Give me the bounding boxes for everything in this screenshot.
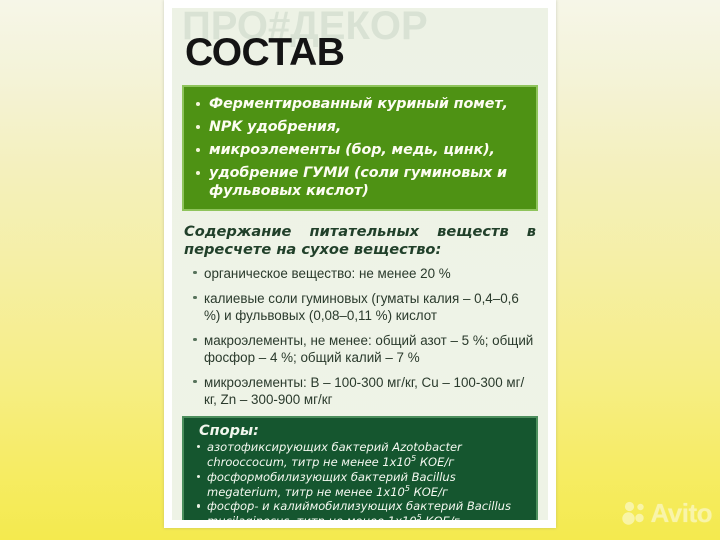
spores-list: азотофиксирующих бактерий Azotobacter ch… [193, 440, 527, 520]
spores-box: Споры: азотофиксирующих бактерий Azotoba… [182, 416, 538, 520]
list-item: удобрение ГУМИ (соли гуминовых и фульвов… [194, 164, 526, 200]
list-item: органическое вещество: не менее 20 % [192, 265, 536, 282]
avito-watermark-label: Avito [650, 500, 712, 526]
page-background: ПРО#ДЕКОР СОСТАВ Ферментированный курины… [0, 0, 720, 540]
spore-text-suffix: КОЕ/г [422, 514, 460, 520]
card-inner-panel: ПРО#ДЕКОР СОСТАВ Ферментированный курины… [172, 8, 548, 520]
list-item: NPK удобрения, [194, 118, 526, 136]
list-item: микроэлементы (бор, медь, цинк), [194, 141, 526, 159]
ingredients-list: Ферментированный куриный помет, NPK удоб… [194, 95, 526, 200]
nutrients-section-heading: Содержание питательных веществ в пересче… [184, 223, 536, 259]
list-item: Ферментированный куриный помет, [194, 95, 526, 113]
spores-title: Споры: [199, 423, 527, 439]
spore-text-suffix: КОЕ/г [410, 484, 448, 498]
list-item: фосформобилизующих бактерий Bacillus meg… [193, 470, 527, 499]
list-item: фосфор- и калиймобилизующих бактерий Bac… [193, 499, 527, 520]
spore-text-prefix: фосфор- и калиймобилизующих бактерий Bac… [207, 499, 511, 520]
list-item: микроэлементы: B – 100-300 мг/кг, Cu – 1… [192, 374, 536, 408]
product-info-card: ПРО#ДЕКОР СОСТАВ Ферментированный курины… [164, 0, 556, 528]
nutrients-list: органическое вещество: не менее 20 % кал… [182, 265, 538, 408]
spore-text-suffix: КОЕ/г [416, 455, 454, 469]
list-item: макроэлементы, не менее: общий азот – 5 … [192, 332, 536, 366]
list-item: азотофиксирующих бактерий Azotobacter ch… [193, 440, 527, 469]
ingredients-box: Ферментированный куриный помет, NPK удоб… [182, 85, 538, 211]
list-item: калиевые соли гуминовых (гуматы калия – … [192, 290, 536, 324]
page-title: СОСТАВ [185, 33, 538, 72]
avito-logo-icon [621, 500, 647, 526]
avito-watermark: Avito [621, 500, 712, 526]
